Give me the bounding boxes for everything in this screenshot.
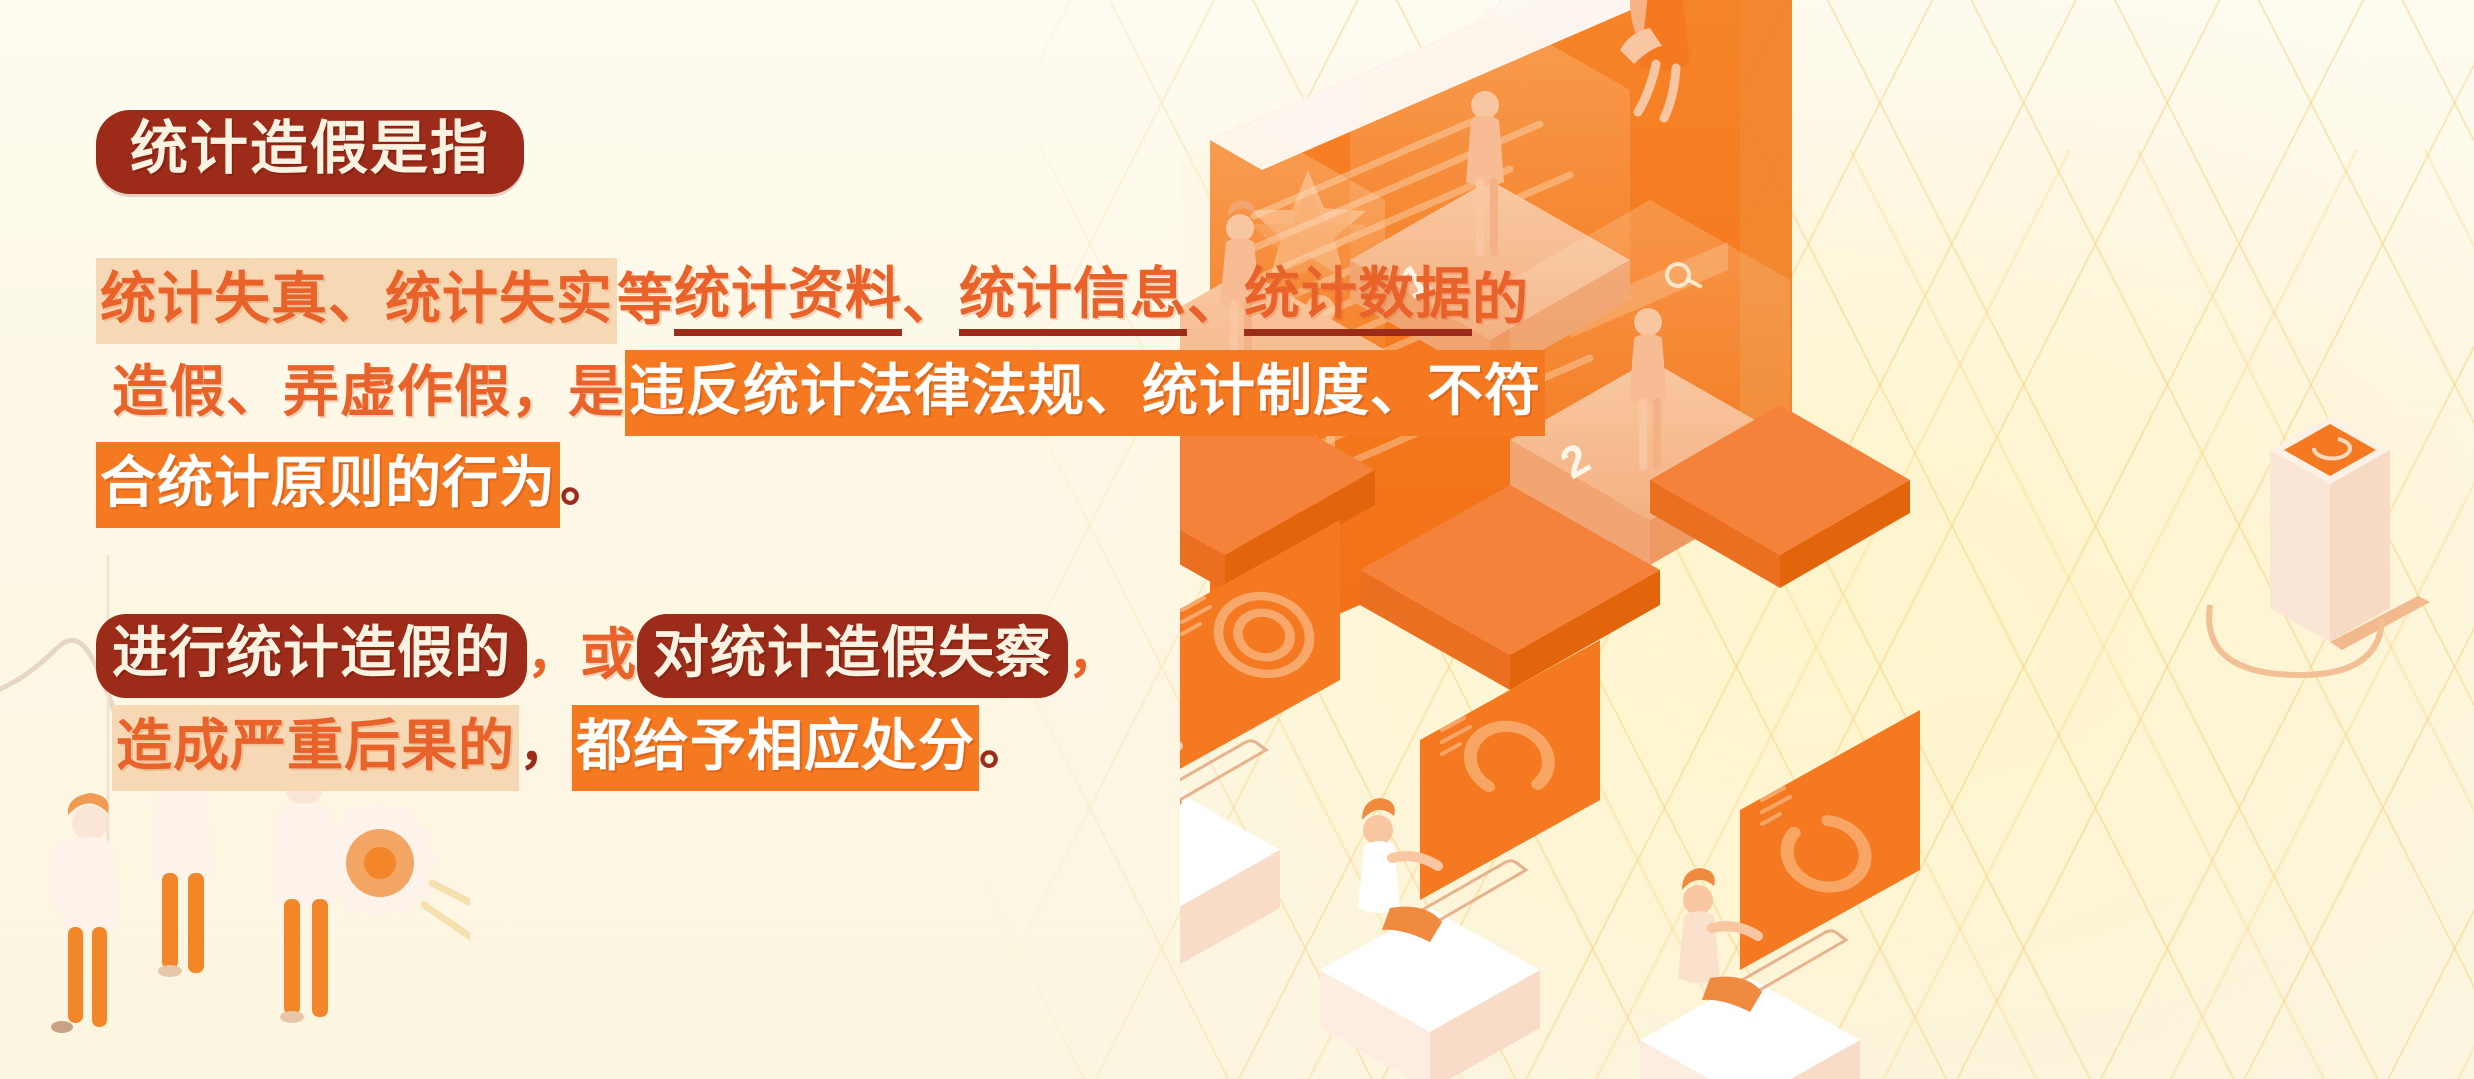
seg-statistical-materials: 统计资料 bbox=[674, 267, 902, 336]
seg-sanctions: 都给予相应处分 bbox=[572, 705, 979, 791]
definition-line-2: 造假、弄虚作假， 是 违反统计法律法规、统计制度、不符 bbox=[0, 347, 1120, 439]
seg-violates-law: 违反统计法律法规、统计制度、不符 bbox=[625, 350, 1545, 436]
seg-period-2: 。 bbox=[979, 722, 1032, 774]
seg-serious-consequences: 造成严重后果的 bbox=[112, 705, 519, 791]
seg-de: 的 bbox=[1472, 273, 1529, 329]
seg-commit-falsification: 进行统计造假的 bbox=[96, 614, 527, 698]
seg-huo: 或 bbox=[580, 628, 637, 684]
seg-fabrication: 造假、弄虚作假， bbox=[112, 365, 568, 421]
seg-comma-4: ， bbox=[1068, 630, 1121, 682]
seg-comma-2: 、 bbox=[1187, 273, 1244, 329]
penalty-line-1: 进行统计造假的 ， 或 对统计造假失察 ， bbox=[0, 610, 1120, 702]
seg-shi: 是 bbox=[568, 365, 625, 421]
seg-violates-principle: 合统计原则的行为 bbox=[96, 442, 560, 528]
seg-false-statistics: 统计失真、统计失实 bbox=[96, 258, 617, 344]
title-badge: 统计造假是指 bbox=[96, 110, 524, 194]
page-title: 统计造假是指 bbox=[130, 116, 490, 181]
seg-deng: 等 bbox=[617, 273, 674, 329]
seg-comma-5: ， bbox=[519, 722, 572, 774]
seg-period-1: 。 bbox=[560, 459, 613, 511]
paragraph-penalty: 进行统计造假的 ， 或 对统计造假失察 ， 造成严重后果的 ， 都给予相应处分 … bbox=[0, 610, 1120, 794]
seg-statistical-data: 统计数据 bbox=[1244, 267, 1472, 336]
definition-line-1: 统计失真、统计失实 等 统计资料 、 统计信息 、 统计数据 的 bbox=[0, 255, 1120, 347]
seg-comma-3: ， bbox=[527, 630, 580, 682]
paragraph-definition: 统计失真、统计失实 等 统计资料 、 统计信息 、 统计数据 的 造假、弄虚作假… bbox=[0, 255, 1120, 531]
seg-statistical-information: 统计信息 bbox=[959, 267, 1187, 336]
seg-comma-1: 、 bbox=[902, 273, 959, 329]
penalty-line-2: 造成严重后果的 ， 都给予相应处分 。 bbox=[0, 702, 1120, 794]
seg-oversight-failure: 对统计造假失察 bbox=[637, 614, 1068, 698]
text-column: 统计造假是指 统计失真、统计失实 等 统计资料 、 统计信息 、 统计数据 的 … bbox=[0, 0, 1120, 1079]
infographic-canvas: 3 1 2 bbox=[0, 0, 2474, 1079]
definition-line-3: 合统计原则的行为 。 bbox=[0, 439, 1120, 531]
